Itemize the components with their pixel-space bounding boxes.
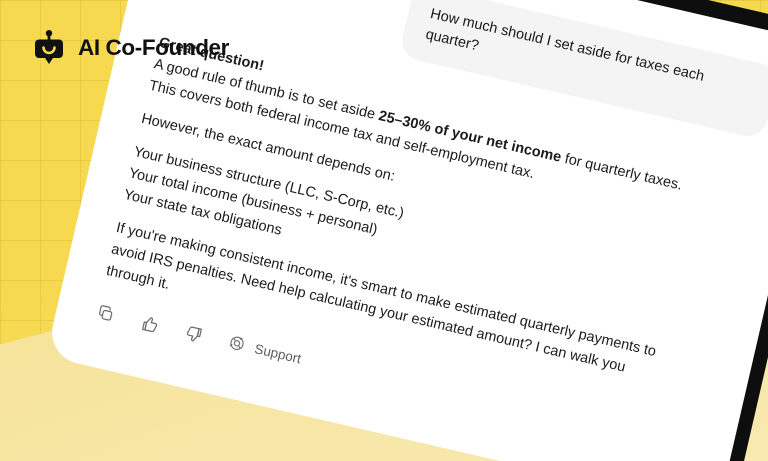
brand-lockup: AI Co-Founder xyxy=(32,30,229,66)
lifebuoy-icon xyxy=(226,333,249,356)
brand-name: AI Co-Founder xyxy=(78,35,229,61)
robot-chat-bubble-icon xyxy=(32,30,66,66)
support-button[interactable]: Support xyxy=(226,333,303,368)
support-label: Support xyxy=(253,341,302,366)
thumbs-down-icon[interactable] xyxy=(182,323,205,346)
thumbs-up-icon[interactable] xyxy=(139,313,162,336)
app-screenshot: AI Co-Founder How much should I set asid… xyxy=(0,0,768,461)
copy-icon[interactable] xyxy=(95,303,118,326)
